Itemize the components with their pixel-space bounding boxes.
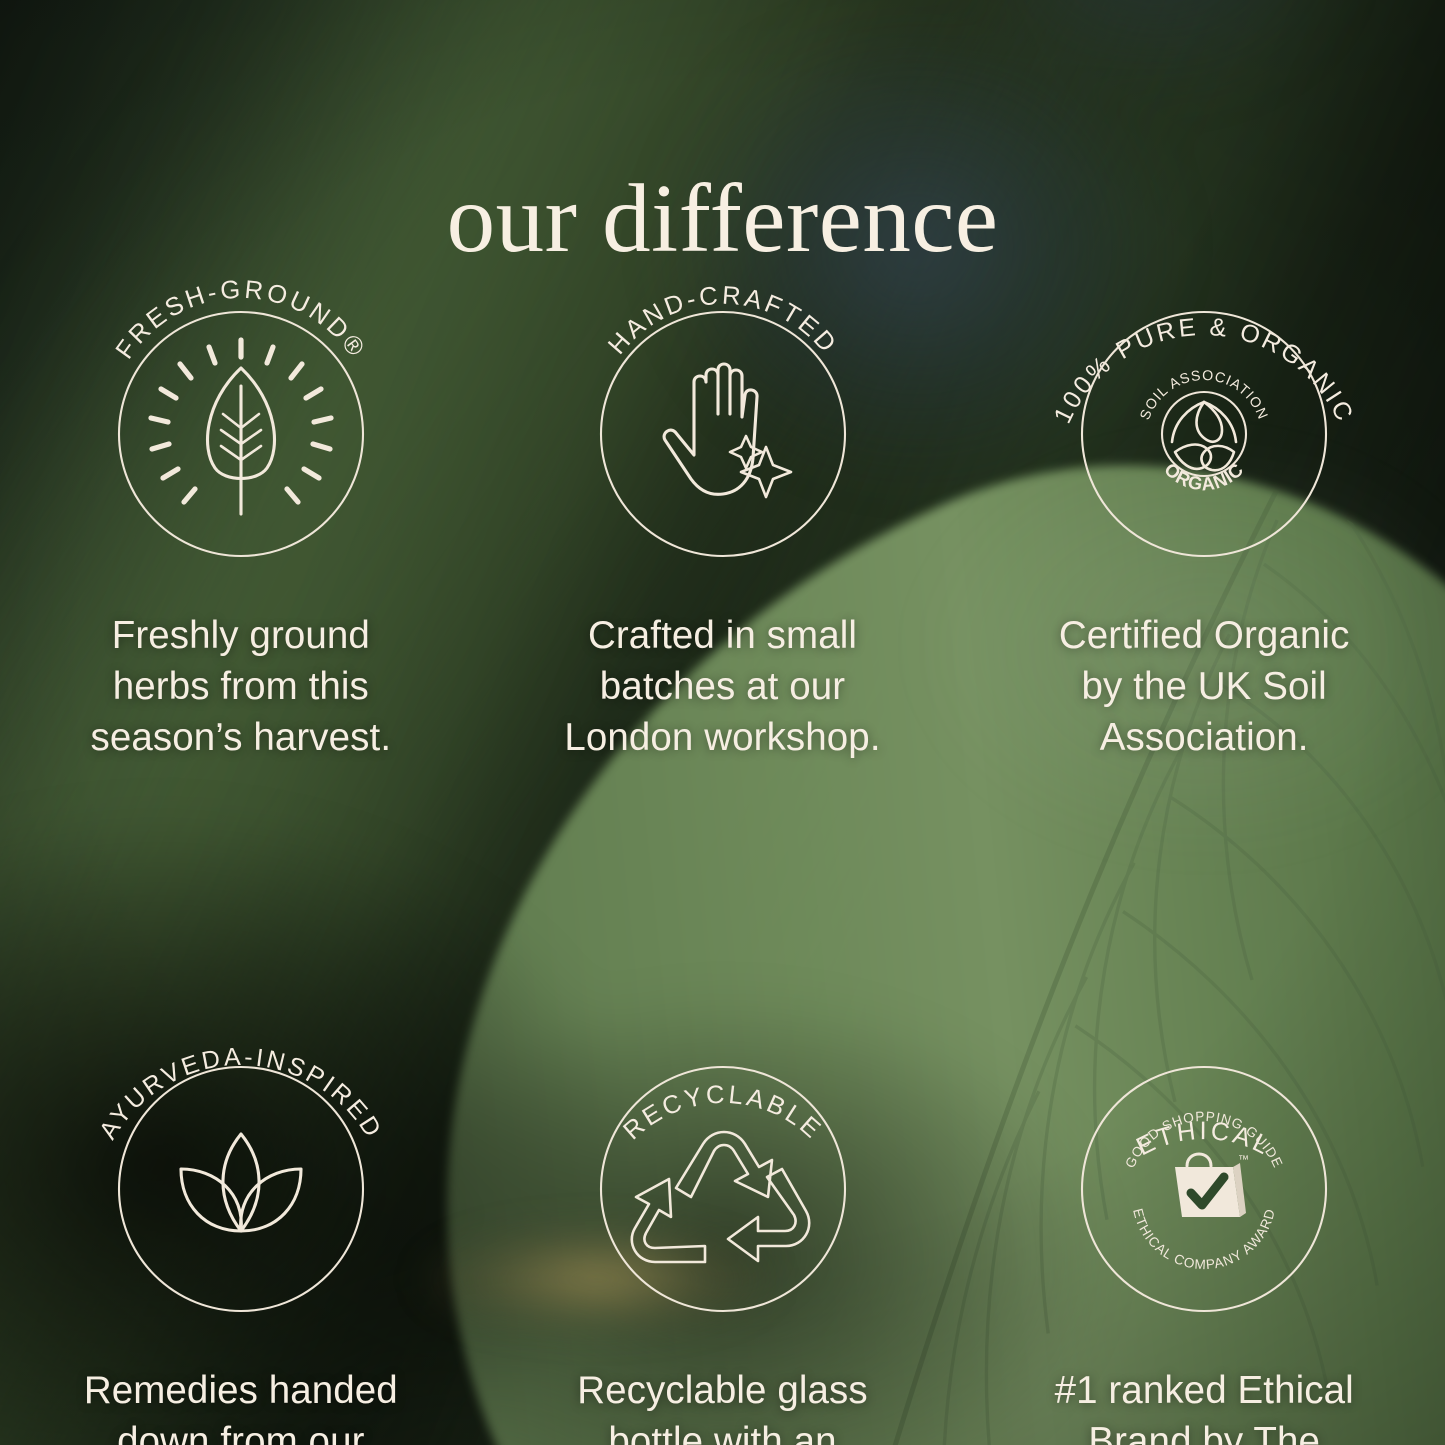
soil-association-organic-icon: SOIL ASSOCIATION ORGANIC [1137, 368, 1270, 495]
soil-association-knot [1172, 402, 1236, 470]
feature-fresh-ground: FRESH-GROUND® [0, 262, 482, 764]
feature-pure-organic: 100% PURE & ORGANIC SOIL ASSOCIATION ORG… [963, 262, 1445, 764]
badge-ayurveda-inspired: AYURVEDA-INSPIRED [81, 1017, 401, 1337]
feature-hand-crafted: HAND-CRAFTED Crafted in small batches at… [482, 262, 964, 764]
lotus-leaf-icon [181, 1134, 301, 1231]
content-layer: our difference FRESH-GROUND® [0, 0, 1445, 1445]
badge-hand-crafted: HAND-CRAFTED [563, 262, 883, 582]
gsg-trademark: ™ [1238, 1154, 1249, 1166]
recycling-arrows-icon [631, 1132, 808, 1262]
feature-caption-fresh-ground: Freshly ground herbs from this season’s … [76, 610, 406, 764]
our-difference-panel: our difference FRESH-GROUND® [0, 0, 1445, 1445]
feature-ethical: ETHICAL GOOD SHOPPING GUIDE ETHICAL COMP… [963, 1017, 1445, 1445]
feature-row-1: FRESH-GROUND® [0, 262, 1445, 764]
hand-with-sparkles-icon [664, 364, 791, 497]
badge-label-hand-crafted: HAND-CRAFTED [602, 282, 842, 360]
leaf-with-rays-icon [151, 340, 331, 514]
badge-ring [601, 312, 845, 556]
badge-recyclable: RECYCLABLE [563, 1017, 883, 1337]
feature-caption-hand-crafted: Crafted in small batches at our London w… [558, 610, 888, 764]
page-title: our difference [0, 168, 1445, 270]
badge-pure-organic: 100% PURE & ORGANIC SOIL ASSOCIATION ORG… [1044, 262, 1364, 582]
feature-row-2: AYURVEDA-INSPIRED Remedies handed down f… [0, 1017, 1445, 1445]
feature-caption-ayurveda-inspired: Remedies handed down from our Indian Her… [76, 1365, 406, 1445]
badge-fresh-ground: FRESH-GROUND® [81, 262, 401, 582]
feature-ayurveda-inspired: AYURVEDA-INSPIRED Remedies handed down f… [0, 1017, 482, 1445]
feature-caption-ethical: #1 ranked Ethical Brand by The Good Shop… [1039, 1365, 1369, 1445]
badge-label-ayurveda-inspired: AYURVEDA-INSPIRED [94, 1042, 388, 1143]
soil-association-arc-top: SOIL ASSOCIATION [1137, 368, 1270, 422]
badge-ring [119, 1067, 363, 1311]
feature-grid: FRESH-GROUND® [0, 262, 1445, 1445]
shopping-bag-icon [1175, 1154, 1246, 1217]
feature-caption-pure-organic: Certified Organic by the UK Soil Associa… [1039, 610, 1369, 764]
badge-ethical: ETHICAL GOOD SHOPPING GUIDE ETHICAL COMP… [1044, 1017, 1364, 1337]
feature-caption-recyclable: Recyclable glass bottle with an aluminiu… [558, 1365, 888, 1445]
feature-recyclable: RECYCLABLE Recyclable glass bottle with … [482, 1017, 964, 1445]
